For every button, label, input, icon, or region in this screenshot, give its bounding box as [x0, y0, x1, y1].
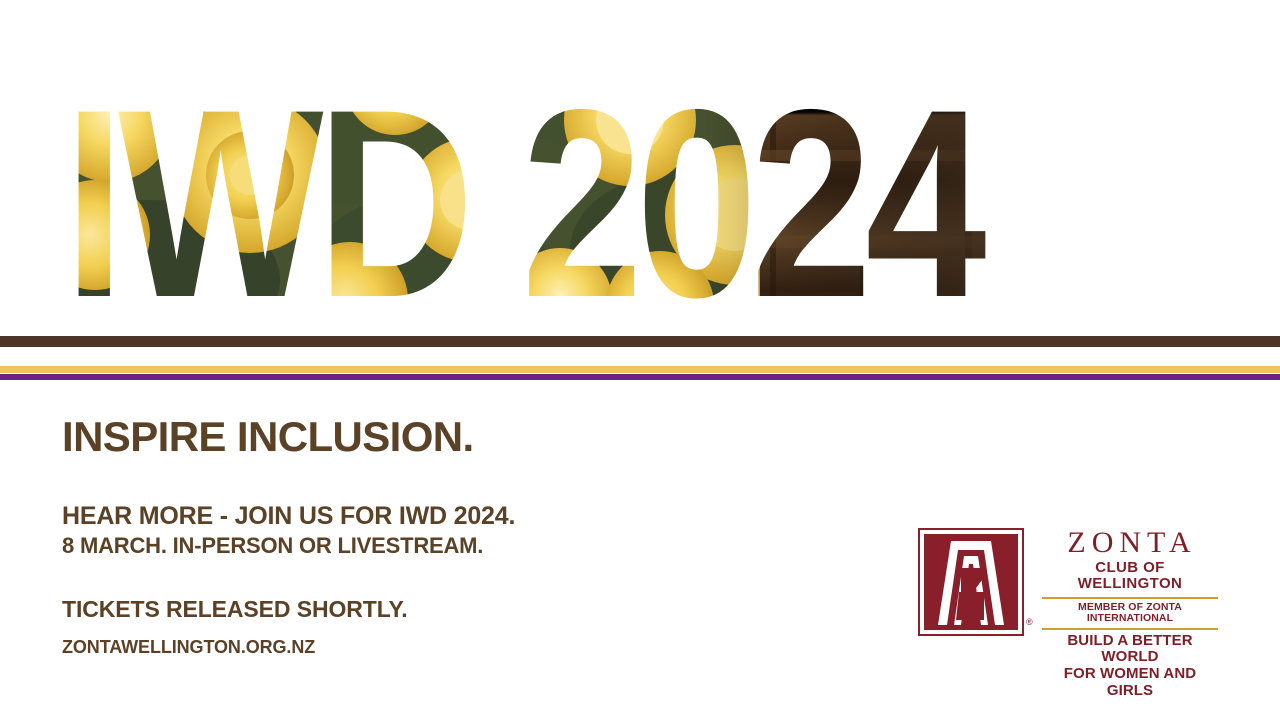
divider-gold: [0, 366, 1280, 373]
event-date-format-line: 8 MARCH. IN-PERSON OR LIVESTREAM.: [62, 533, 882, 558]
iwd-2024-photo-text: [0, 0, 1280, 330]
hero-banner: IWD 2024: [0, 0, 1280, 330]
page-title: INSPIRE INCLUSION.: [62, 416, 882, 458]
registered-trademark-icon: ®: [1026, 618, 1033, 627]
zonta-wordmark: ZONTA: [1046, 528, 1218, 558]
website-link[interactable]: ZONTAWELLINGTON.ORG.NZ: [62, 637, 882, 658]
poster-body: INSPIRE INCLUSION. HEAR MORE - JOIN US F…: [0, 380, 1280, 720]
zonta-tagline-line-2: FOR WOMEN AND GIRLS: [1042, 666, 1218, 700]
zonta-emblem-icon: [918, 528, 1024, 636]
zonta-tagline-line-1: BUILD A BETTER WORLD: [1042, 633, 1218, 667]
zonta-membership-label: MEMBER OF ZONTA INTERNATIONAL: [1042, 602, 1218, 625]
zonta-logo: ® ZONTA CLUB OF WELLINGTON MEMBER OF ZON…: [918, 528, 1218, 653]
zonta-club-label: CLUB OF: [1042, 560, 1218, 576]
logo-divider-top: [1042, 597, 1218, 599]
tickets-status: TICKETS RELEASED SHORTLY.: [62, 596, 882, 623]
logo-divider-bottom: [1042, 628, 1218, 630]
hero-headline-artwork: IWD 2024: [0, 0, 1280, 330]
zonta-logo-text: ZONTA CLUB OF WELLINGTON MEMBER OF ZONTA…: [1042, 528, 1218, 700]
copy-block: INSPIRE INCLUSION. HEAR MORE - JOIN US F…: [62, 416, 882, 658]
zonta-city-label: WELLINGTON: [1042, 576, 1218, 592]
event-invite-line: HEAR MORE - JOIN US FOR IWD 2024.: [62, 502, 882, 531]
divider-brown: [0, 336, 1280, 347]
